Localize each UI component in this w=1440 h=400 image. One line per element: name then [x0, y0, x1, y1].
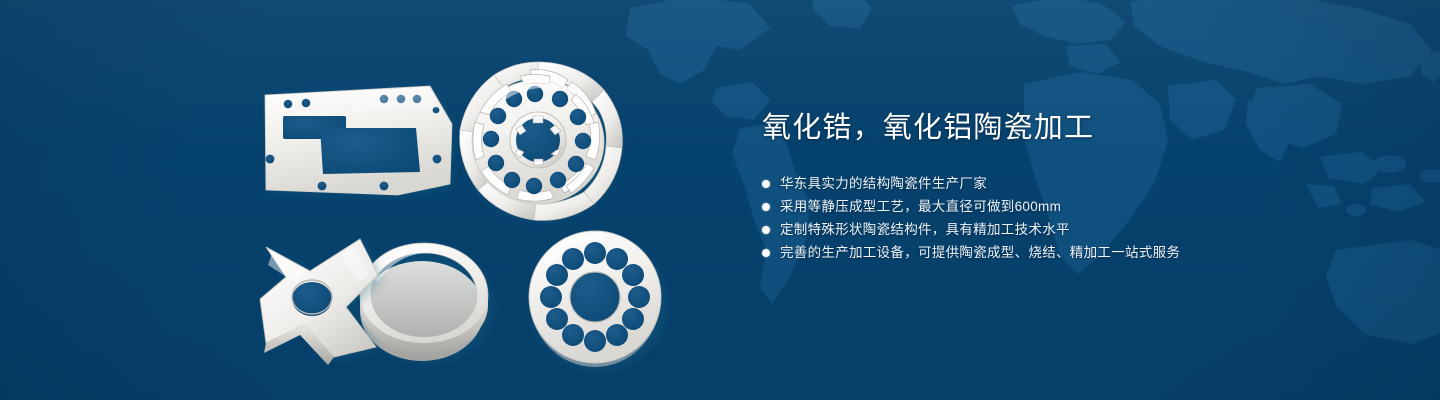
list-item-label: 采用等静压成型工艺，最大直径可做到600mm — [780, 195, 1061, 218]
ceramic-impeller-part — [460, 62, 623, 220]
list-item: 定制特殊形状陶瓷结构件，具有精加工技术水平 — [762, 218, 1362, 241]
list-item-label: 完善的生产加工设备，可提供陶瓷成型、烧结、精加工一站式服务 — [780, 241, 1180, 264]
bullet-dot-icon — [762, 180, 770, 188]
ceramic-ring-part — [360, 243, 494, 363]
ceramic-plate-part — [265, 86, 452, 196]
list-item-label: 华东具实力的结构陶瓷件生产厂家 — [780, 172, 987, 195]
banner-text-block: 氧化锆，氧化铝陶瓷加工 华东具实力的结构陶瓷件生产厂家 采用等静压成型工艺，最大… — [762, 110, 1362, 264]
list-item: 完善的生产加工设备，可提供陶瓷成型、烧结、精加工一站式服务 — [762, 241, 1362, 264]
page-title: 氧化锆，氧化铝陶瓷加工 — [762, 110, 1362, 146]
ceramic-valve-plate-part — [529, 231, 667, 371]
feature-bullet-list: 华东具实力的结构陶瓷件生产厂家 采用等静压成型工艺，最大直径可做到600mm 定… — [762, 172, 1362, 264]
bullet-dot-icon — [762, 249, 770, 257]
list-item: 华东具实力的结构陶瓷件生产厂家 — [762, 172, 1362, 195]
list-item: 采用等静压成型工艺，最大直径可做到600mm — [762, 195, 1362, 218]
list-item-label: 定制特殊形状陶瓷结构件，具有精加工技术水平 — [780, 218, 1070, 241]
bullet-dot-icon — [762, 203, 770, 211]
hero-banner: 氧化锆，氧化铝陶瓷加工 华东具实力的结构陶瓷件生产厂家 采用等静压成型工艺，最大… — [0, 0, 1440, 400]
bullet-dot-icon — [762, 226, 770, 234]
